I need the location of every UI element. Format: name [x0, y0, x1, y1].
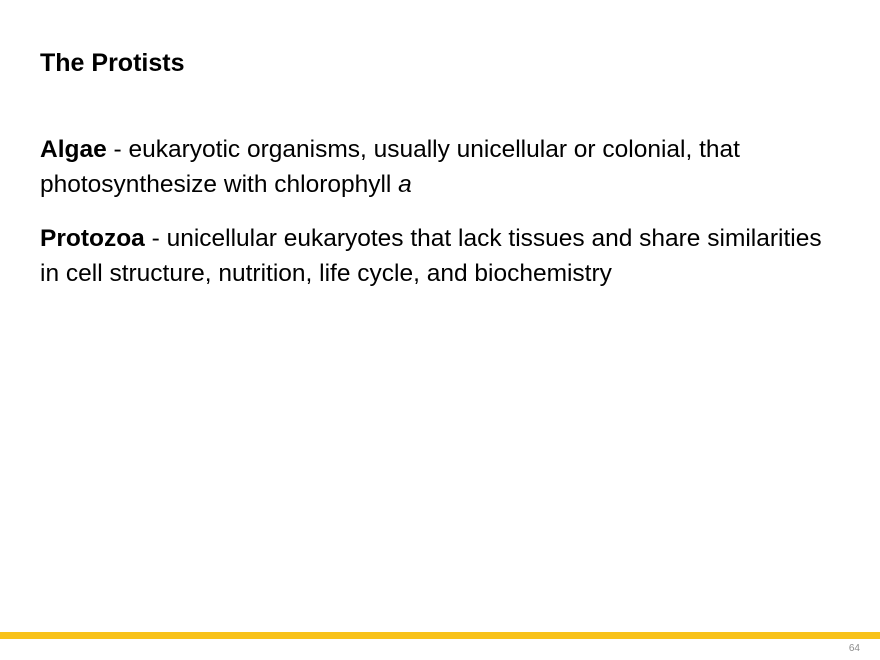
page-title: The Protists [40, 48, 840, 78]
slide-canvas: The Protists Algae - eukaryotic organism… [0, 0, 880, 660]
footer-accent-bar [0, 632, 880, 639]
definition-algae: eukaryotic organisms, usually unicellula… [40, 136, 740, 198]
separator-algae: - [107, 136, 129, 163]
paragraph-text: Protozoa - unicellular eukaryotes that l… [40, 222, 840, 291]
separator-protozoa: - [145, 225, 167, 252]
page-number: 64 [849, 643, 860, 655]
paragraph-algae: Algae - eukaryotic organisms, usually un… [40, 133, 840, 202]
italic-chlorophyll-a: a [398, 171, 412, 198]
term-algae: Algae [40, 136, 107, 163]
paragraph-protozoa: Protozoa - unicellular eukaryotes that l… [40, 222, 840, 291]
paragraph-text: Algae - eukaryotic organisms, usually un… [40, 133, 840, 202]
term-protozoa: Protozoa [40, 225, 145, 252]
